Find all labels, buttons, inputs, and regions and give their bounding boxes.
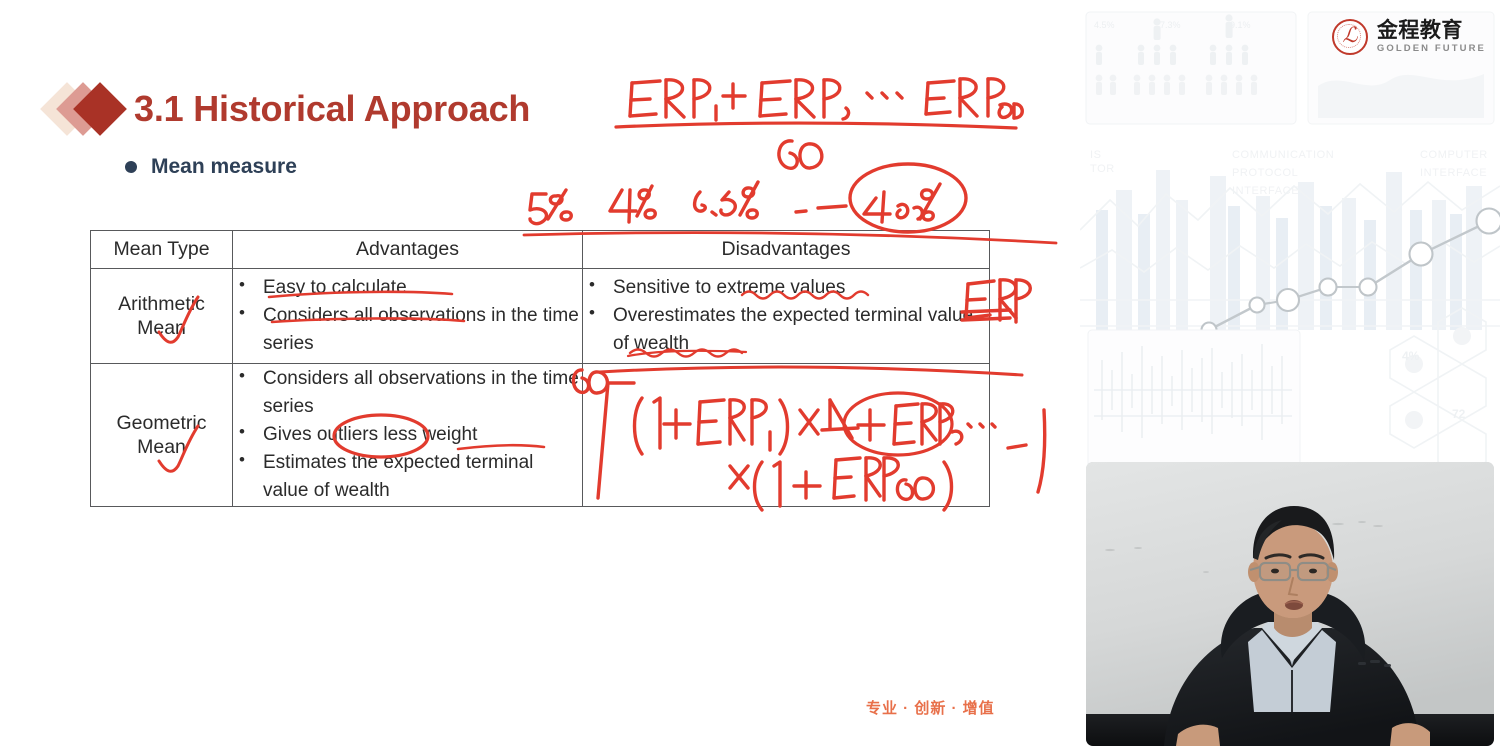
svg-text:7.3%: 7.3%: [1160, 20, 1181, 30]
arithmetic-line1: Arithmetic: [91, 292, 232, 316]
cell-disadvantages-arithmetic: Sensitive to extreme values Overestimate…: [583, 269, 990, 364]
logo-chinese-name: 金程教育: [1377, 20, 1486, 41]
table-row: Arithmetic Mean Easy to calculate Consid…: [91, 269, 990, 364]
logo-english-name: GOLDEN FUTURE: [1377, 44, 1486, 54]
header-advantages: Advantages: [233, 231, 583, 269]
svg-text:TOR: TOR: [1090, 163, 1115, 175]
list-item: Easy to calculate: [233, 274, 582, 302]
instructor-video-tile[interactable]: [1086, 462, 1494, 746]
title-row: 3.1 Historical Approach: [48, 78, 530, 140]
cell-disadvantages-geometric: [583, 364, 990, 507]
svg-text:IS: IS: [1090, 149, 1102, 161]
cell-advantages-arithmetic: Easy to calculate Considers all observat…: [233, 269, 583, 364]
slide-area: 3.1 Historical Approach Mean measure Mea…: [0, 0, 1080, 750]
svg-text:9.1%: 9.1%: [1230, 20, 1251, 30]
seal-ring-icon: [1337, 24, 1361, 48]
svg-text:COMPUTER: COMPUTER: [1420, 149, 1488, 161]
header-mean-type: Mean Type: [91, 231, 233, 269]
cell-mean-type-geometric: Geometric Mean: [91, 364, 233, 507]
svg-text:4%: 4%: [1402, 349, 1420, 363]
bullet-dot-icon: [125, 161, 137, 173]
table-header-row: Mean Type Advantages Disadvantages: [91, 231, 990, 269]
svg-text:COMMUNICATION: COMMUNICATION: [1232, 149, 1334, 161]
list-item: Gives outliers less weight: [233, 421, 582, 449]
list-item: Considers all observations in the time s…: [233, 302, 582, 358]
list-item: Considers all observations in the time s…: [233, 365, 582, 421]
list-item: Estimates the expected terminal value of…: [233, 449, 582, 505]
footer-slogan: 专业 · 创新 · 增值: [866, 697, 995, 718]
mean-comparison-table: Mean Type Advantages Disadvantages Arith…: [90, 230, 990, 507]
header-disadvantages: Disadvantages: [583, 231, 990, 269]
diamond-decoration: [48, 82, 128, 136]
video-frame: [1086, 462, 1494, 746]
mean-measure-label: Mean measure: [151, 155, 297, 179]
cell-mean-type-arithmetic: Arithmetic Mean: [91, 269, 233, 364]
screen-root: 3.1 Historical Approach Mean measure Mea…: [0, 0, 1500, 750]
mean-measure-bullet-row: Mean measure: [125, 155, 297, 179]
svg-text:72: 72: [1452, 407, 1466, 421]
seal-icon: [1332, 19, 1368, 55]
svg-text:PROTOCOL: PROTOCOL: [1232, 167, 1298, 179]
list-item: Overestimates the expected terminal valu…: [583, 302, 989, 358]
cell-advantages-geometric: Considers all observations in the time s…: [233, 364, 583, 507]
geometric-line1: Geometric: [91, 411, 232, 435]
right-panel: 4.5% 7.3% 9.1%: [1080, 0, 1500, 750]
list-item: Sensitive to extreme values: [583, 274, 989, 302]
svg-text:4.5%: 4.5%: [1094, 20, 1115, 30]
geometric-line2: Mean: [91, 435, 232, 459]
svg-text:INTERFACE: INTERFACE: [1420, 167, 1487, 179]
brand-logo: 金程教育 GOLDEN FUTURE: [1332, 18, 1486, 56]
background-infographic: 4.5% 7.3% 9.1%: [1080, 0, 1500, 470]
arithmetic-line2: Mean: [91, 316, 232, 340]
page-title: 3.1 Historical Approach: [134, 88, 530, 130]
table-row: Geometric Mean Considers all observation…: [91, 364, 990, 507]
